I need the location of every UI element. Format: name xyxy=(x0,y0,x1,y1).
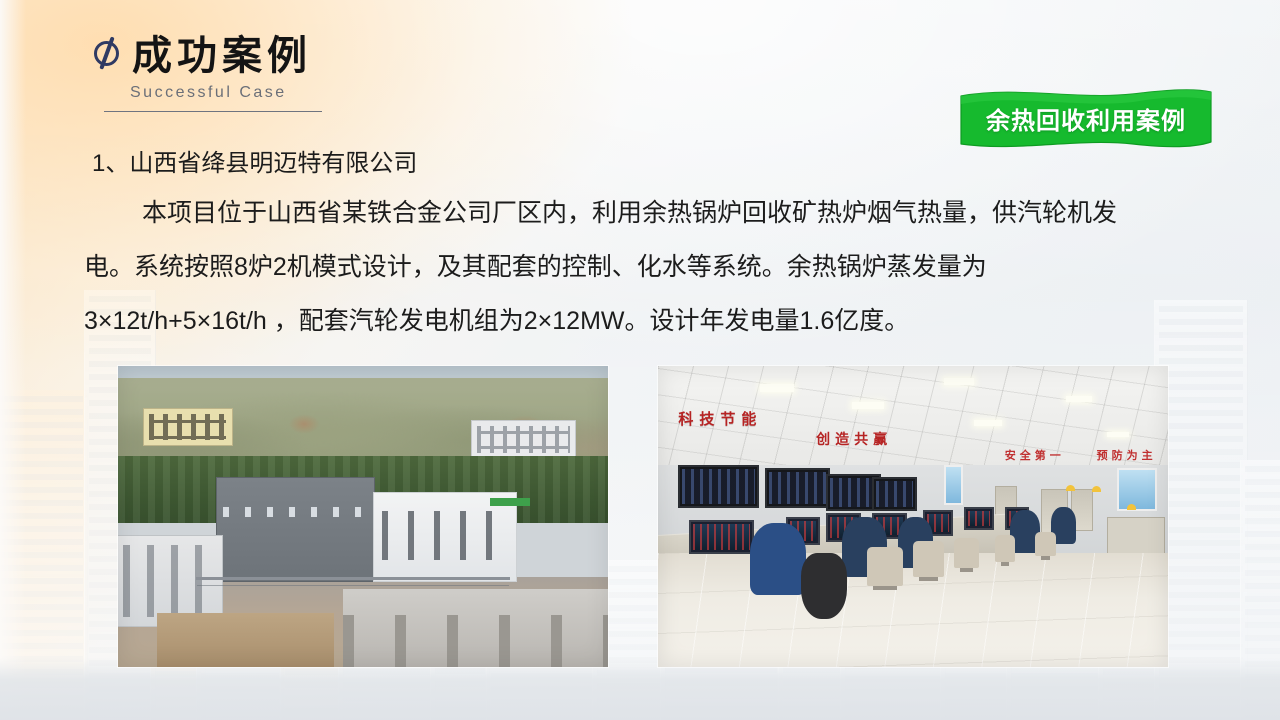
case-item-number: 1、山西省绛县明迈特有限公司 xyxy=(92,142,1214,186)
slashed-circle-icon xyxy=(92,36,126,70)
slide-root: 成功案例 Successful Case 余热回收利用案例 1、山西省绛县明迈特… xyxy=(0,0,1280,720)
plant-photo-scene xyxy=(118,366,608,667)
background-bottom-band xyxy=(0,658,1280,720)
body-line-3: 3×12t/h+5×16t/h ，配套汽轮发电机组为2×12MW。设计年发电量1… xyxy=(84,294,1214,348)
control-room-photo-scene: 科技节能 创造共赢 安全第一 预防为主 xyxy=(658,366,1168,667)
title-row: 成功案例 xyxy=(92,34,612,78)
wall-slogan-2: 创造共赢 xyxy=(816,429,892,449)
wall-slogan-4: 预防为主 xyxy=(1097,447,1157,463)
wall-slogan-1: 科技节能 xyxy=(678,408,762,429)
page-title: 成功案例 xyxy=(132,34,312,78)
title-divider xyxy=(104,111,322,112)
background-left-fade xyxy=(0,0,26,720)
slide-header: 成功案例 Successful Case xyxy=(92,34,612,112)
control-room-photo: 科技节能 创造共赢 安全第一 预防为主 xyxy=(658,366,1168,667)
page-subtitle: Successful Case xyxy=(130,84,612,102)
plant-exterior-photo xyxy=(118,366,608,667)
body-text-block: 1、山西省绛县明迈特有限公司 本项目位于山西省某铁合金公司厂区内，利用余热锅炉回… xyxy=(84,142,1214,348)
body-line-2: 电。系统按照8炉2机模式设计，及其配套的控制、化水等系统。余热锅炉蒸发量为 xyxy=(84,240,1214,294)
body-line-1: 本项目位于山西省某铁合金公司厂区内，利用余热锅炉回收矿热炉烟气热量，供汽轮机发 xyxy=(84,186,1214,240)
wall-slogan-3: 安全第一 xyxy=(1005,447,1065,463)
